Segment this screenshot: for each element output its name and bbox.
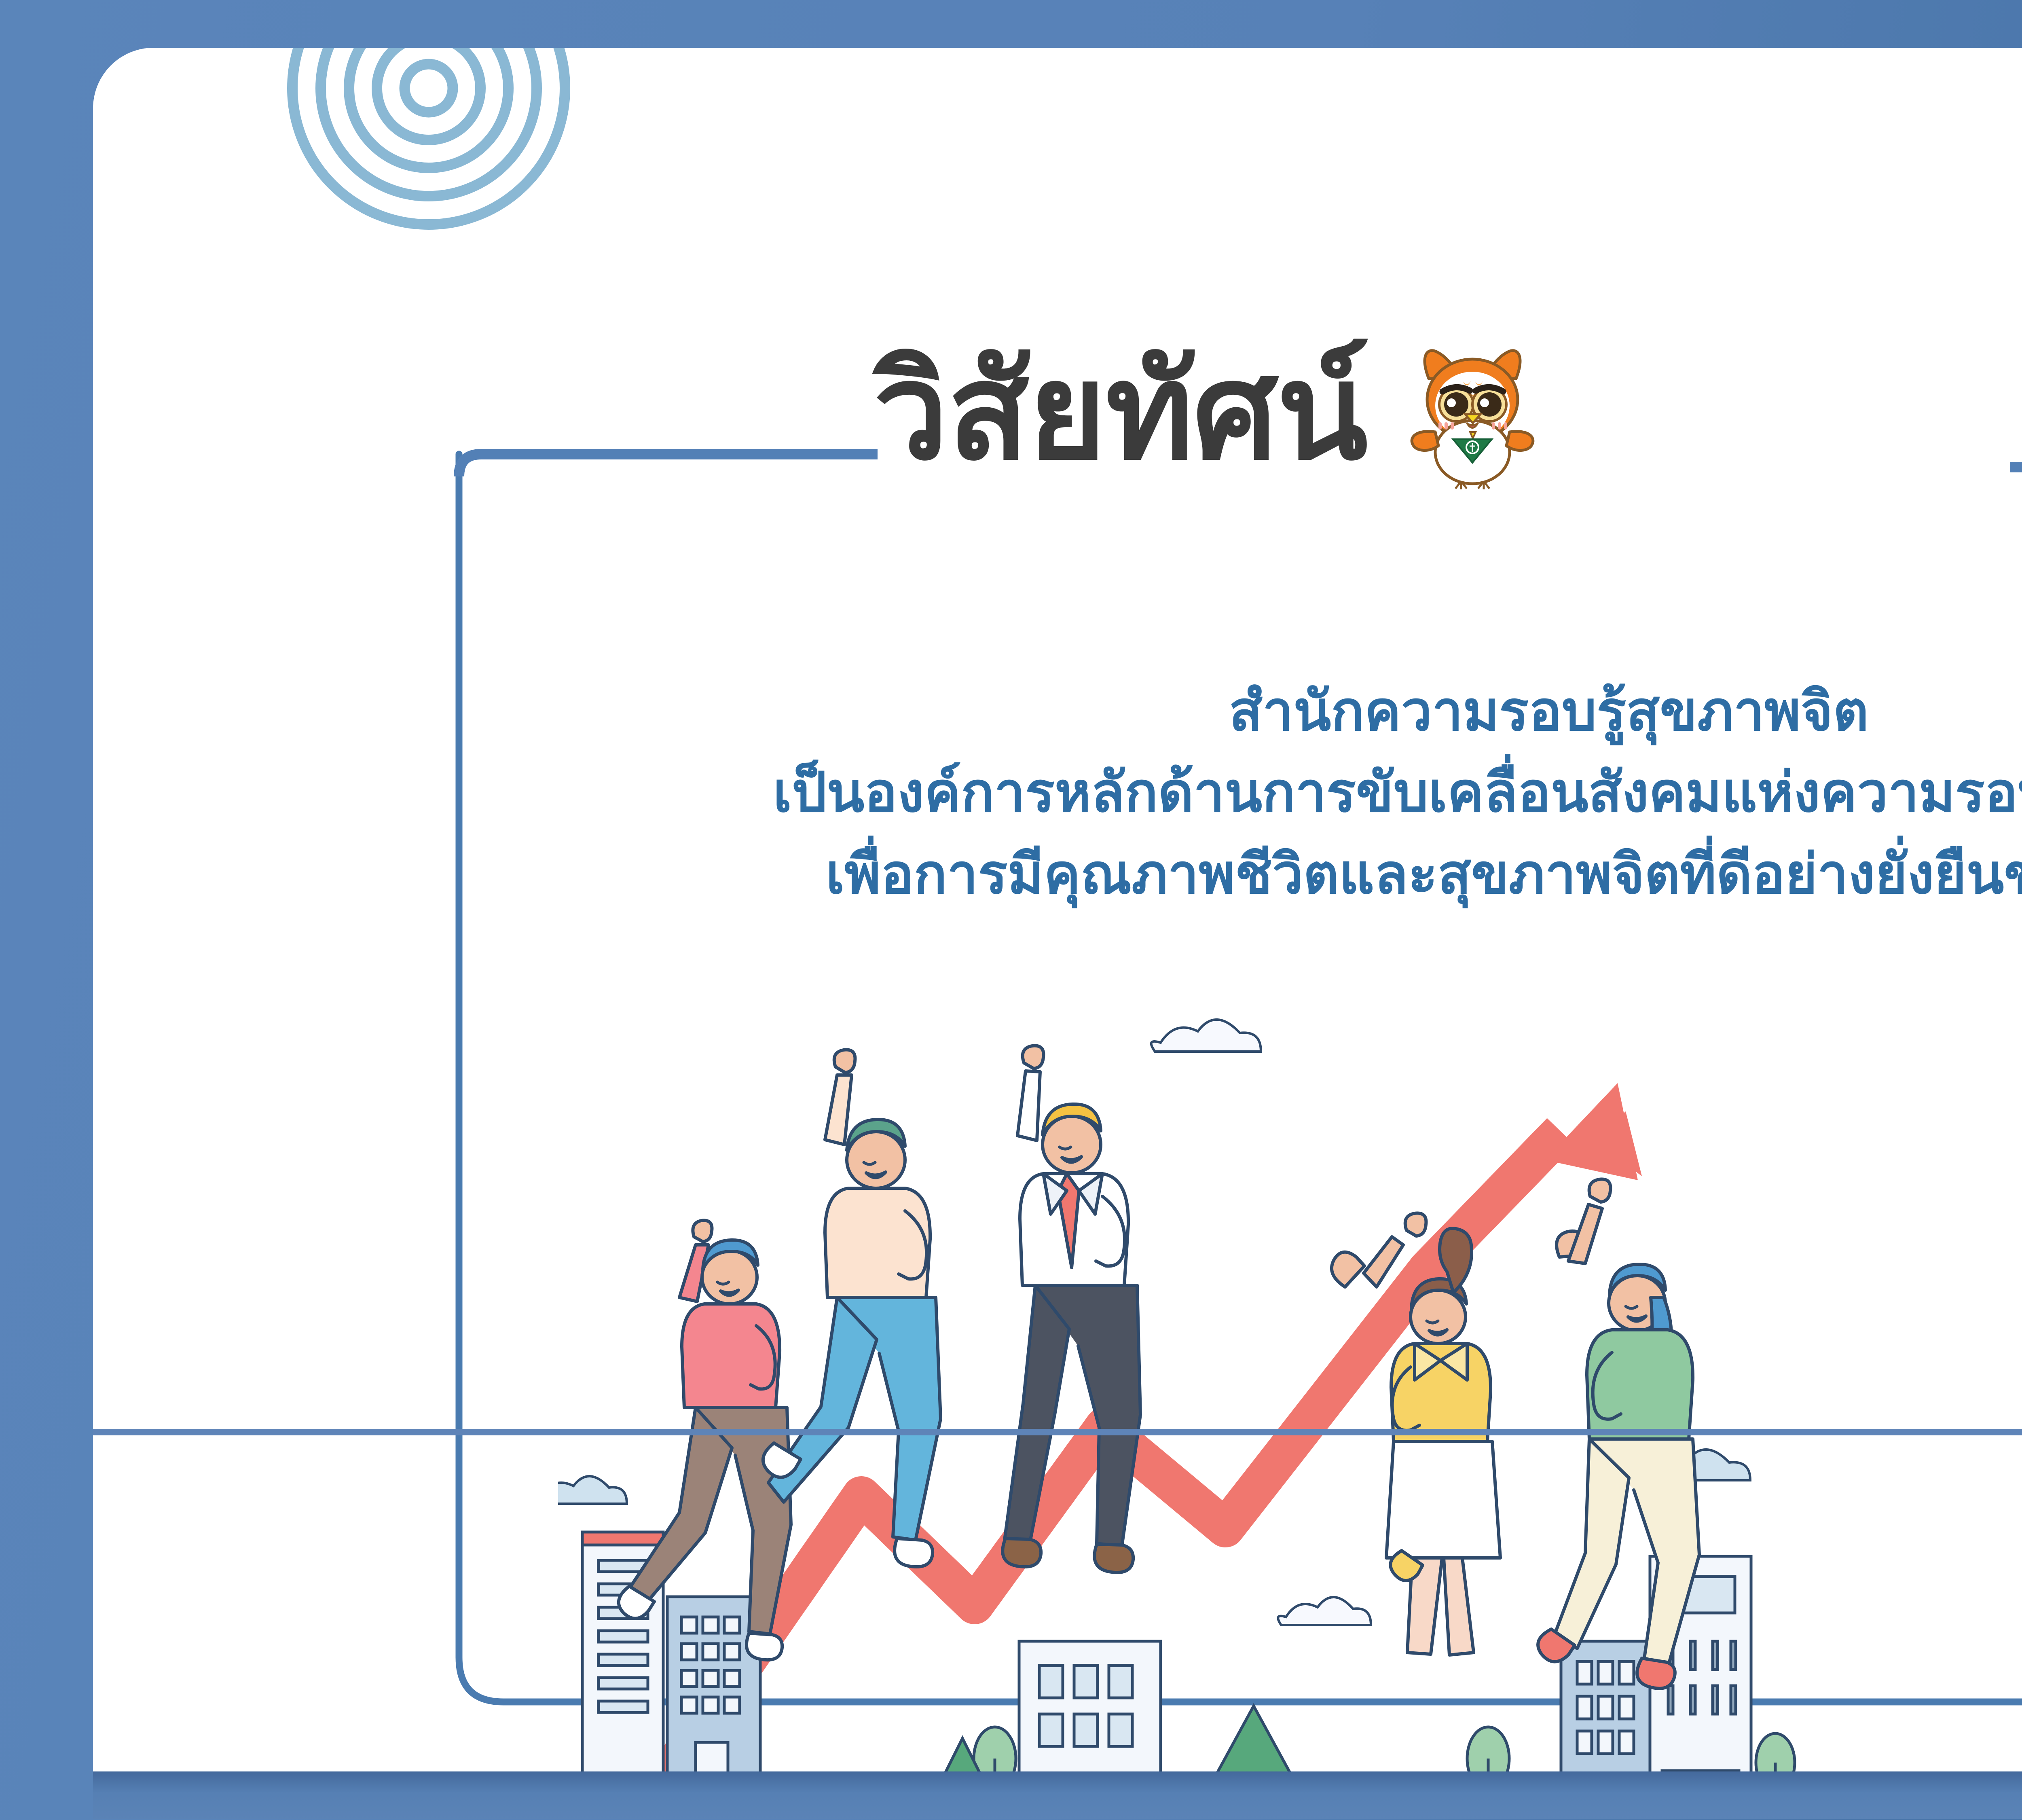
page-title: วิสัยทัศน์ — [874, 345, 1367, 478]
vision-line-2: เป็นองค์การหลักด้านการขับเคลื่อนสังคมแห่… — [336, 752, 2022, 833]
title-rule-right — [2010, 462, 2022, 472]
vision-line-3: เพื่อการมีคุณภาพชีวิตและสุขภาพจิตที่ดีอย… — [336, 834, 2022, 915]
page-title-row: วิสัยทัศน์ — [874, 331, 1553, 493]
slide-background: วิสัยทัศน์ — [0, 0, 2022, 1820]
ground-band — [93, 1771, 2022, 1819]
people-celebrating-growth-arrow-illustration — [558, 1018, 2022, 1819]
content-card: วิสัยทัศน์ — [93, 48, 2022, 1819]
ground-line — [93, 1429, 2022, 1435]
vision-statement: สำนักความรอบรู้สุขภาพจิต เป็นองค์การหลัก… — [336, 671, 2022, 915]
owl-mascot-icon — [1392, 331, 1553, 493]
vision-line-1: สำนักความรอบรู้สุขภาพจิต — [336, 671, 2022, 752]
